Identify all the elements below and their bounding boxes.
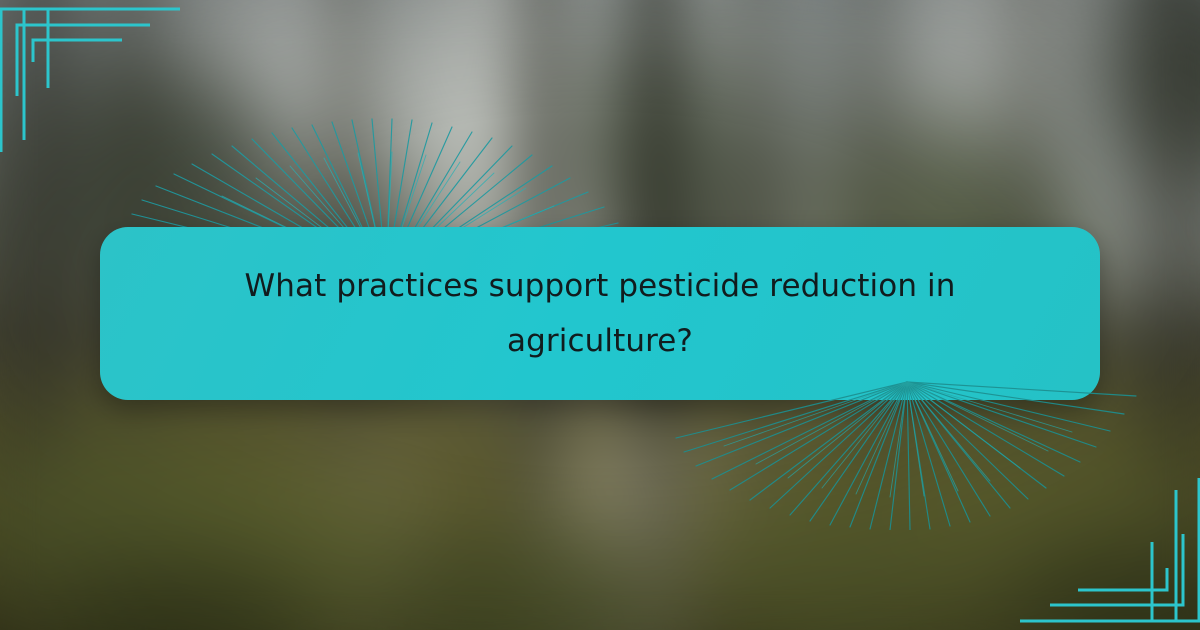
question-card: What practices support pesticide reducti… [100, 227, 1100, 400]
question-text: What practices support pesticide reducti… [205, 259, 995, 369]
bottom-right-bracket [1010, 470, 1200, 630]
top-left-bracket [0, 0, 190, 160]
bracket-lines [1, 9, 180, 152]
screenshot-canvas: What practices support pesticide reducti… [0, 0, 1200, 630]
bracket-lines [1020, 478, 1199, 621]
